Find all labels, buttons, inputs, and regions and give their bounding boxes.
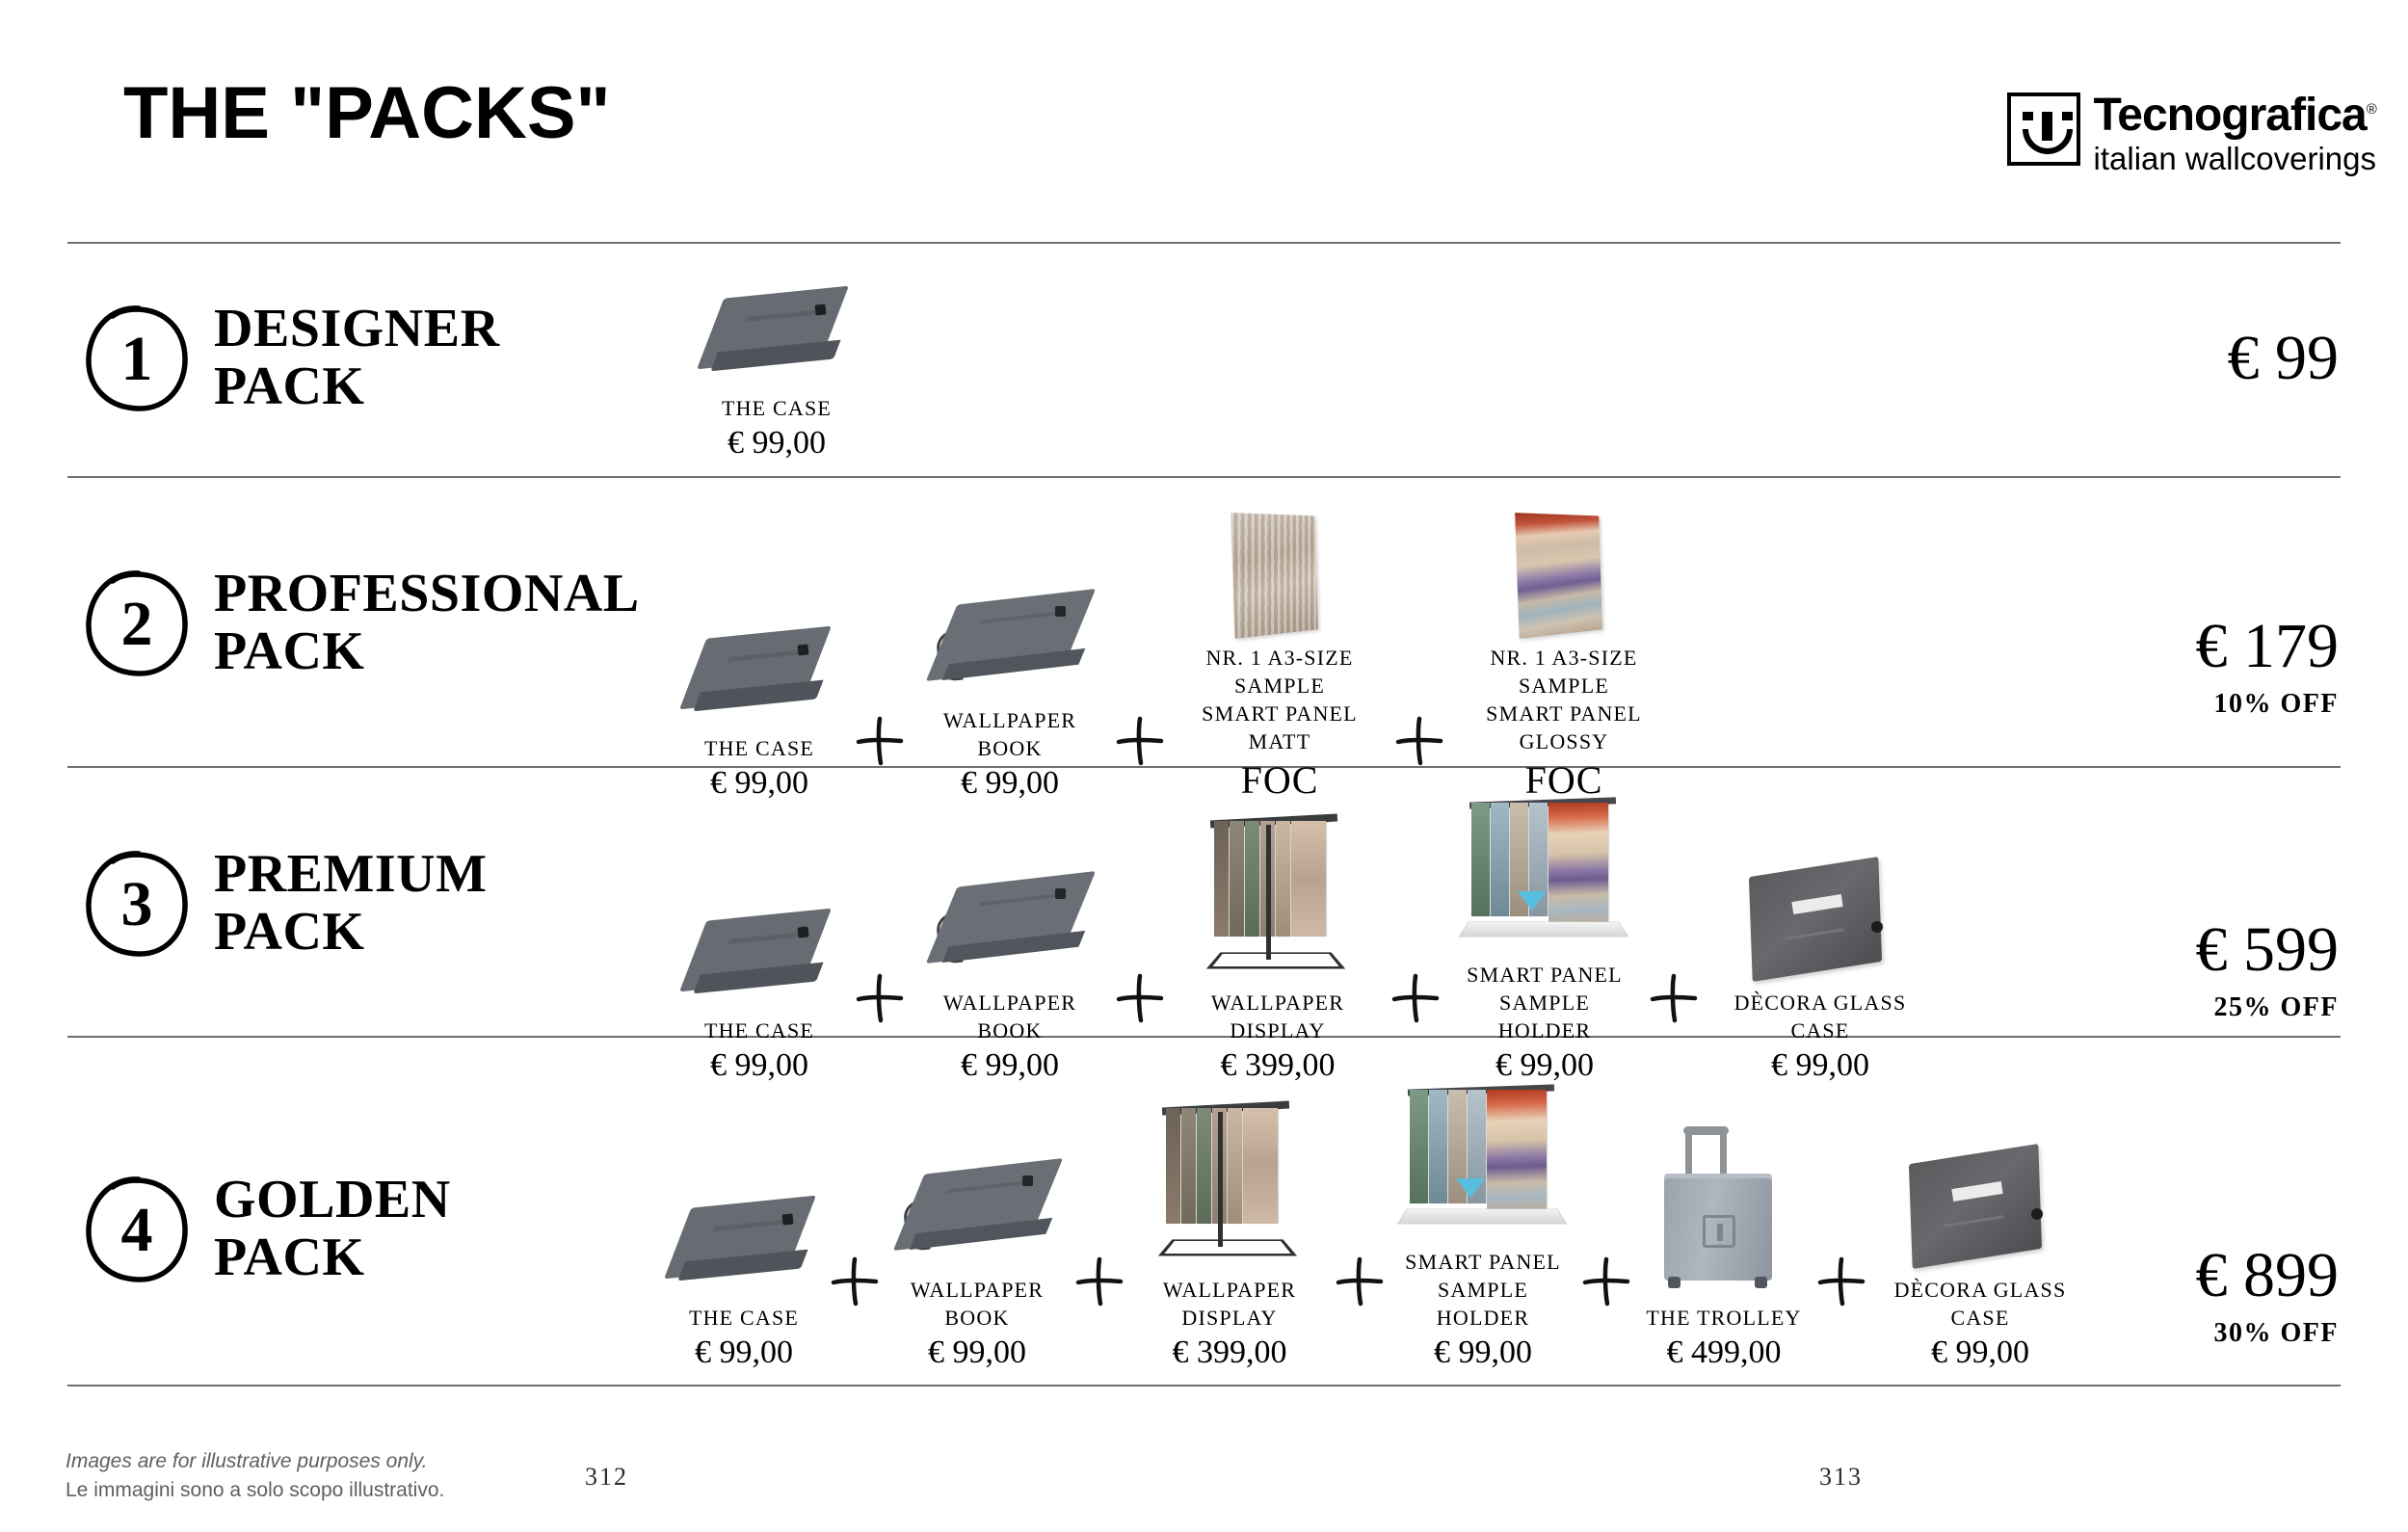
pack-total-price: € 99	[2228, 325, 2340, 391]
pack-row-designer[interactable]: 1 DESIGNER PACK THE CASE € 99,00 € 99	[0, 242, 2408, 476]
item-image	[1156, 1087, 1303, 1270]
the-case-icon	[705, 288, 848, 388]
pack-discount-badge: 10% OFF	[2196, 689, 2340, 720]
item-caption: THE CASE	[689, 1304, 799, 1332]
plus-icon	[1810, 1190, 1873, 1373]
pack-total-price-block: € 599 25% OFF	[2196, 916, 2340, 1023]
pack-row-premium[interactable]: 3 PREMIUM PACK THE CASE € 99,00 WALLPAPE…	[0, 766, 2408, 1036]
item-price: € 399,00	[1173, 1334, 1287, 1373]
item-caption: SMART PANEL SAMPLE HOLDER	[1451, 961, 1638, 1044]
item-image	[932, 807, 1088, 983]
pack-discount-badge: 25% OFF	[2196, 992, 2340, 1023]
page-number-left: 312	[585, 1463, 628, 1492]
registered-mark-icon: ®	[2367, 101, 2376, 118]
item-the-case[interactable]: THE CASE € 99,00	[665, 1115, 823, 1373]
item-the-case[interactable]: THE CASE € 99,00	[690, 273, 863, 463]
pack-discount-badge: 30% OFF	[2196, 1318, 2340, 1349]
pack-row-label: 4 GOLDEN PACK	[83, 1171, 451, 1287]
item-wallpaper-display[interactable]: WALLPAPER DISPLAY € 399,00	[1131, 1087, 1328, 1373]
page-number-right: 313	[1819, 1463, 1863, 1492]
pack-number-badge: 1	[83, 304, 191, 411]
the-case-icon	[688, 628, 831, 728]
item-smart-panel-sample-holder[interactable]: SMART PANEL SAMPLE HOLDER € 99,00	[1391, 1059, 1574, 1373]
item-image	[1517, 513, 1611, 638]
decora-glass-case-icon	[1902, 1150, 2058, 1270]
item-caption: WALLPAPER DISPLAY	[1131, 1276, 1328, 1332]
item-image	[1464, 779, 1626, 955]
item-caption: THE CASE	[704, 734, 814, 762]
pack-number-badge: 4	[83, 1175, 191, 1282]
item-image	[705, 273, 848, 388]
item-image	[673, 1115, 815, 1298]
item-caption: DÈCORA GLASS CASE	[1873, 1276, 2087, 1332]
pack-number: 2	[121, 593, 153, 656]
pack-row-label: 2 PROFESSIONAL PACK	[83, 565, 640, 681]
pack-number: 3	[121, 873, 153, 937]
pack-total-price-block: € 899 30% OFF	[2196, 1242, 2340, 1349]
item-image	[1204, 807, 1351, 983]
divider-bottom	[67, 1385, 2341, 1387]
item-wallpaper-book[interactable]: WALLPAPER BOOK € 99,00	[886, 1087, 1068, 1373]
pack-total-price: € 899	[2196, 1242, 2340, 1308]
page-header: THE "PACKS" Tecnografica® italian wallco…	[0, 0, 2408, 242]
item-price: € 99,00	[928, 1334, 1026, 1373]
disclaimer-it: Le immagini sono a solo scopo illustrati…	[66, 1476, 444, 1505]
item-decora-glass-case[interactable]: DÈCORA GLASS CASE € 99,00	[1873, 1087, 2087, 1373]
pack-total-price-block: € 179 10% OFF	[2196, 613, 2340, 720]
item-price: € 499,00	[1667, 1334, 1782, 1373]
pack-row-professional[interactable]: 2 PROFESSIONAL PACK THE CASE € 99,00 WAL…	[0, 476, 2408, 766]
item-smart-panel-glossy[interactable]: NR. 1 A3-SIZE SAMPLE SMART PANEL GLOSSY …	[1455, 513, 1673, 804]
pack-number-badge: 2	[83, 568, 191, 676]
page-title: THE "PACKS"	[123, 77, 611, 150]
item-image	[1660, 1115, 1787, 1298]
item-caption: WALLPAPER BOOK	[915, 706, 1104, 762]
the-case-icon	[673, 1198, 815, 1298]
plus-icon	[1068, 1190, 1131, 1373]
sample-holder-icon	[1464, 803, 1626, 955]
pack-items: THE CASE € 99,00 WALLPAPER BOOK € 99,00	[665, 1059, 2087, 1373]
item-price: € 99,00	[728, 424, 826, 463]
plus-icon	[1574, 1190, 1638, 1373]
wallpaper-book-icon	[899, 1162, 1055, 1270]
item-image	[932, 575, 1088, 700]
smart-panel-glossy-icon	[1517, 515, 1611, 638]
item-image	[1232, 513, 1327, 638]
pack-row-label: 1 DESIGNER PACK	[83, 300, 500, 416]
pack-items: THE CASE € 99,00 WALLPAPER BOOK € 99,00	[675, 513, 1673, 804]
pack-number: 1	[121, 328, 153, 391]
wallpaper-book-icon	[932, 593, 1088, 700]
item-image	[1742, 807, 1898, 983]
pack-name: PROFESSIONAL PACK	[214, 565, 640, 681]
sample-holder-icon	[1402, 1090, 1564, 1242]
wallpaper-display-icon	[1156, 1108, 1303, 1270]
page-footer: Images are for illustrative purposes onl…	[0, 1426, 2408, 1532]
item-the-trolley[interactable]: THE TROLLEY € 499,00	[1638, 1115, 1810, 1373]
item-caption: SMART PANEL SAMPLE HOLDER	[1391, 1248, 1574, 1332]
item-caption: NR. 1 A3-SIZE SAMPLE SMART PANEL MATT	[1176, 644, 1384, 755]
logo-subtitle: italian wallcoverings	[2094, 143, 2376, 174]
decora-glass-case-icon	[1742, 863, 1898, 983]
plus-icon	[1328, 1190, 1391, 1373]
item-caption: THE CASE	[722, 394, 832, 422]
pack-items: THE CASE € 99,00	[690, 273, 863, 463]
pack-number: 4	[121, 1199, 153, 1262]
pack-row-golden[interactable]: 4 GOLDEN PACK THE CASE € 99,00 WALLPAPER…	[0, 1036, 2408, 1385]
item-image	[1402, 1059, 1564, 1242]
item-image	[688, 835, 831, 1011]
item-price: € 99,00	[695, 1334, 793, 1373]
disclaimer: Images are for illustrative purposes onl…	[66, 1447, 444, 1506]
item-price: € 99,00	[1434, 1334, 1532, 1373]
pack-total-price: € 599	[2196, 916, 2340, 983]
wallpaper-display-icon	[1204, 821, 1351, 983]
wallpaper-book-icon	[932, 875, 1088, 983]
pack-number-badge: 3	[83, 849, 191, 957]
item-image	[688, 603, 831, 728]
pack-name: GOLDEN PACK	[214, 1171, 451, 1287]
item-image	[899, 1087, 1055, 1270]
item-caption: THE TROLLEY	[1646, 1304, 1801, 1332]
pack-total-price: € 179	[2196, 613, 2340, 679]
logo-wordmark: Tecnografica®	[2094, 92, 2376, 139]
pack-row-label: 3 PREMIUM PACK	[83, 845, 487, 962]
item-caption: NR. 1 A3-SIZE SAMPLE SMART PANEL GLOSSY	[1455, 644, 1673, 755]
brand-logo: Tecnografica® italian wallcoverings	[2007, 92, 2376, 174]
smart-panel-matt-icon	[1232, 515, 1327, 638]
pack-total-price-block: € 99	[2228, 325, 2340, 391]
item-caption: WALLPAPER BOOK	[886, 1276, 1068, 1332]
disclaimer-en: Images are for illustrative purposes onl…	[66, 1447, 444, 1476]
the-trolley-icon	[1660, 1126, 1787, 1298]
pack-name: PREMIUM PACK	[214, 845, 487, 962]
item-image	[1902, 1087, 2058, 1270]
tecnografica-mark-icon	[2007, 92, 2080, 166]
item-smart-panel-matt[interactable]: NR. 1 A3-SIZE SAMPLE SMART PANEL MATT FO…	[1176, 513, 1384, 804]
the-case-icon	[688, 911, 831, 1011]
item-price: € 99,00	[1931, 1334, 2029, 1373]
plus-icon	[823, 1190, 886, 1373]
pack-name: DESIGNER PACK	[214, 300, 500, 416]
logo-word-text: Tecnografica	[2094, 90, 2367, 141]
